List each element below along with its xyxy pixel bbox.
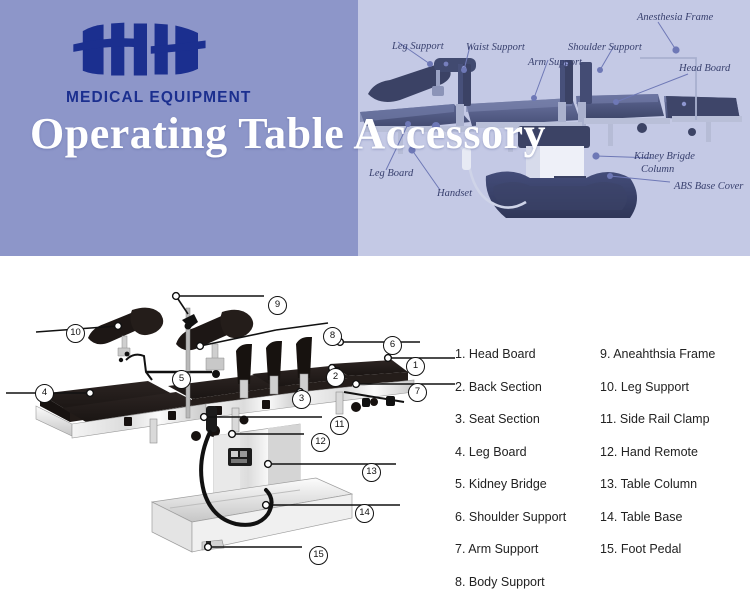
callout-badge-8: 8 — [323, 327, 342, 346]
header-banner: MEDICAL EQUIPMENT Operating Table Access… — [0, 0, 750, 256]
callout-badge-13: 13 — [362, 463, 381, 482]
hero-label-waist-support: Waist Support — [466, 42, 525, 53]
parts-legend: 1. Head Board2. Back Section3. Seat Sect… — [455, 338, 750, 573]
hero-label-column: Column — [641, 164, 674, 175]
hero-label-head-board: Head Board — [679, 63, 730, 74]
legend-item: 8. Body Support — [455, 566, 600, 599]
operating-table-line-drawing — [0, 256, 455, 600]
hero-label-leg-board: Leg Board — [369, 168, 413, 179]
brand-logo: MEDICAL EQUIPMENT — [66, 16, 286, 107]
legend-column-right: 9. Aneahthsia Frame10. Leg Support11. Si… — [600, 338, 750, 573]
callout-badge-12: 12 — [311, 433, 330, 452]
hero-label-anesthesia-frame: Anesthesia Frame — [637, 12, 713, 23]
legend-item: 4. Leg Board — [455, 436, 600, 469]
callout-badge-9: 9 — [268, 296, 287, 315]
callout-badge-4: 4 — [35, 384, 54, 403]
legend-item: 6. Shoulder Support — [455, 501, 600, 534]
callout-badge-3: 3 — [292, 390, 311, 409]
legend-item: 2. Back Section — [455, 371, 600, 404]
callout-badge-10: 10 — [66, 324, 85, 343]
legend-column-left: 1. Head Board2. Back Section3. Seat Sect… — [455, 338, 600, 573]
legend-item: 3. Seat Section — [455, 403, 600, 436]
hero-label-shoulder-support: Shoulder Support — [568, 42, 642, 53]
hero-label-kidney-brigde: Kidney Brigde — [634, 151, 695, 162]
legend-item: 9. Aneahthsia Frame — [600, 338, 750, 371]
callout-badge-14: 14 — [355, 504, 374, 523]
hw-shield-logo-icon — [66, 16, 211, 84]
legend-item: 15. Foot Pedal — [600, 533, 750, 566]
hero-label-arm-support: Arm Support — [528, 57, 582, 68]
legend-item: 5. Kidney Bridge — [455, 468, 600, 501]
lower-section: 123456789101112131415 1. Head Board2. Ba… — [0, 256, 750, 600]
legend-item: 12. Hand Remote — [600, 436, 750, 469]
legend-item: 10. Leg Support — [600, 371, 750, 404]
hero-label-handset: Handset — [437, 188, 472, 199]
callout-badge-7: 7 — [408, 383, 427, 402]
hero-label-leg-support: Leg Support — [392, 41, 444, 52]
legend-item: 11. Side Rail Clamp — [600, 403, 750, 436]
callout-badge-5: 5 — [172, 370, 191, 389]
brand-name: MEDICAL EQUIPMENT — [66, 89, 286, 107]
legend-item: 7. Arm Support — [455, 533, 600, 566]
legend-item: 1. Head Board — [455, 338, 600, 371]
callout-badge-15: 15 — [309, 546, 328, 565]
page-title: Operating Table Accessory — [30, 108, 546, 159]
hero-label-abs-base-cover: ABS Base Cover — [674, 181, 743, 192]
legend-item: 13. Table Column — [600, 468, 750, 501]
callout-badge-6: 6 — [383, 336, 402, 355]
legend-item: 14. Table Base — [600, 501, 750, 534]
callout-badge-11: 11 — [330, 416, 349, 435]
callout-badge-1: 1 — [406, 357, 425, 376]
callout-badge-2: 2 — [326, 368, 345, 387]
